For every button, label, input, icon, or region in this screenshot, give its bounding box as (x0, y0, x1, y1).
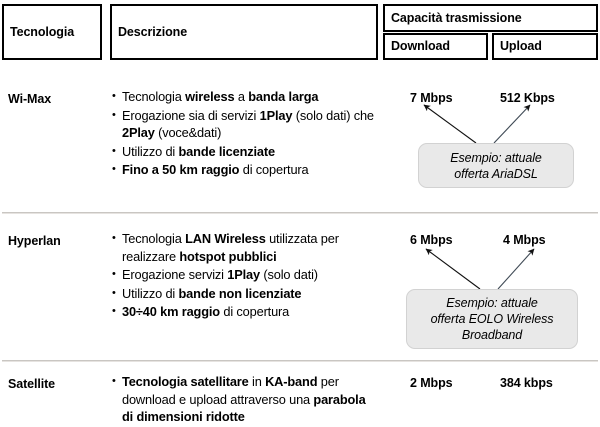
callout-line: offerta EOLO Wireless (431, 311, 554, 327)
callout-arrows-hyperlan (412, 243, 582, 291)
header-label-descrizione: Descrizione (118, 26, 187, 39)
header-cell-download: Download (383, 33, 488, 60)
callout-arrows-wi-max (412, 100, 582, 145)
bullet-item: Tecnologia satellitare in KA-band per do… (112, 373, 380, 426)
row-description-wi-max: Tecnologia wireless a banda largaErogazi… (112, 88, 380, 180)
row-label-hyperlan: Hyperlan (8, 235, 61, 248)
row-label-satellite: Satellite (8, 378, 55, 391)
row-download-satellite: 2 Mbps (410, 377, 452, 390)
callout-wi-max: Esempio: attuale offerta AriaDSL (418, 143, 574, 188)
header-cell-tecnologia: Tecnologia (2, 4, 102, 60)
bullet-item: Tecnologia wireless a banda larga (112, 88, 380, 106)
bullet-item: Utilizzo di bande non licenziate (112, 285, 380, 303)
row-description-hyperlan: Tecnologia LAN Wireless utilizzata per r… (112, 230, 380, 322)
bullet-item: Erogazione sia di servizi 1Play (solo da… (112, 107, 380, 142)
row-label-wi-max: Wi-Max (8, 93, 51, 106)
header-label-download: Download (391, 40, 450, 53)
bullet-item: Utilizzo di bande licenziate (112, 143, 380, 161)
row-upload-wi-max: 512 Kbps (500, 92, 555, 105)
row-description-satellite: Tecnologia satellitare in KA-band per do… (112, 373, 380, 427)
header-cell-capacita-trasmissione: Capacità trasmissione (383, 4, 598, 32)
callout-line: Esempio: attuale (450, 150, 542, 166)
callout-line: Esempio: attuale (446, 295, 538, 311)
bullet-item: 30÷40 km raggio di copertura (112, 303, 380, 321)
row-upload-satellite: 384 kbps (500, 377, 553, 390)
bullet-item: Tecnologia LAN Wireless utilizzata per r… (112, 230, 380, 265)
bullet-item: Erogazione servizi 1Play (solo dati) (112, 266, 380, 284)
row-download-wi-max: 7 Mbps (410, 92, 452, 105)
section-divider (2, 360, 598, 362)
callout-line: offerta AriaDSL (454, 166, 538, 182)
section-divider (2, 212, 598, 214)
bullet-item: Fino a 50 km raggio di copertura (112, 161, 380, 179)
header-cell-upload: Upload (492, 33, 598, 60)
callout-line: Broadband (462, 327, 522, 343)
row-download-hyperlan: 6 Mbps (410, 234, 452, 247)
header-label-upload: Upload (500, 40, 542, 53)
row-upload-hyperlan: 4 Mbps (503, 234, 545, 247)
header-label-capacita: Capacità trasmissione (391, 12, 522, 25)
header-cell-descrizione: Descrizione (110, 4, 378, 60)
header-label-tecnologia: Tecnologia (10, 26, 74, 39)
callout-hyperlan: Esempio: attuale offerta EOLO Wireless B… (406, 289, 578, 349)
